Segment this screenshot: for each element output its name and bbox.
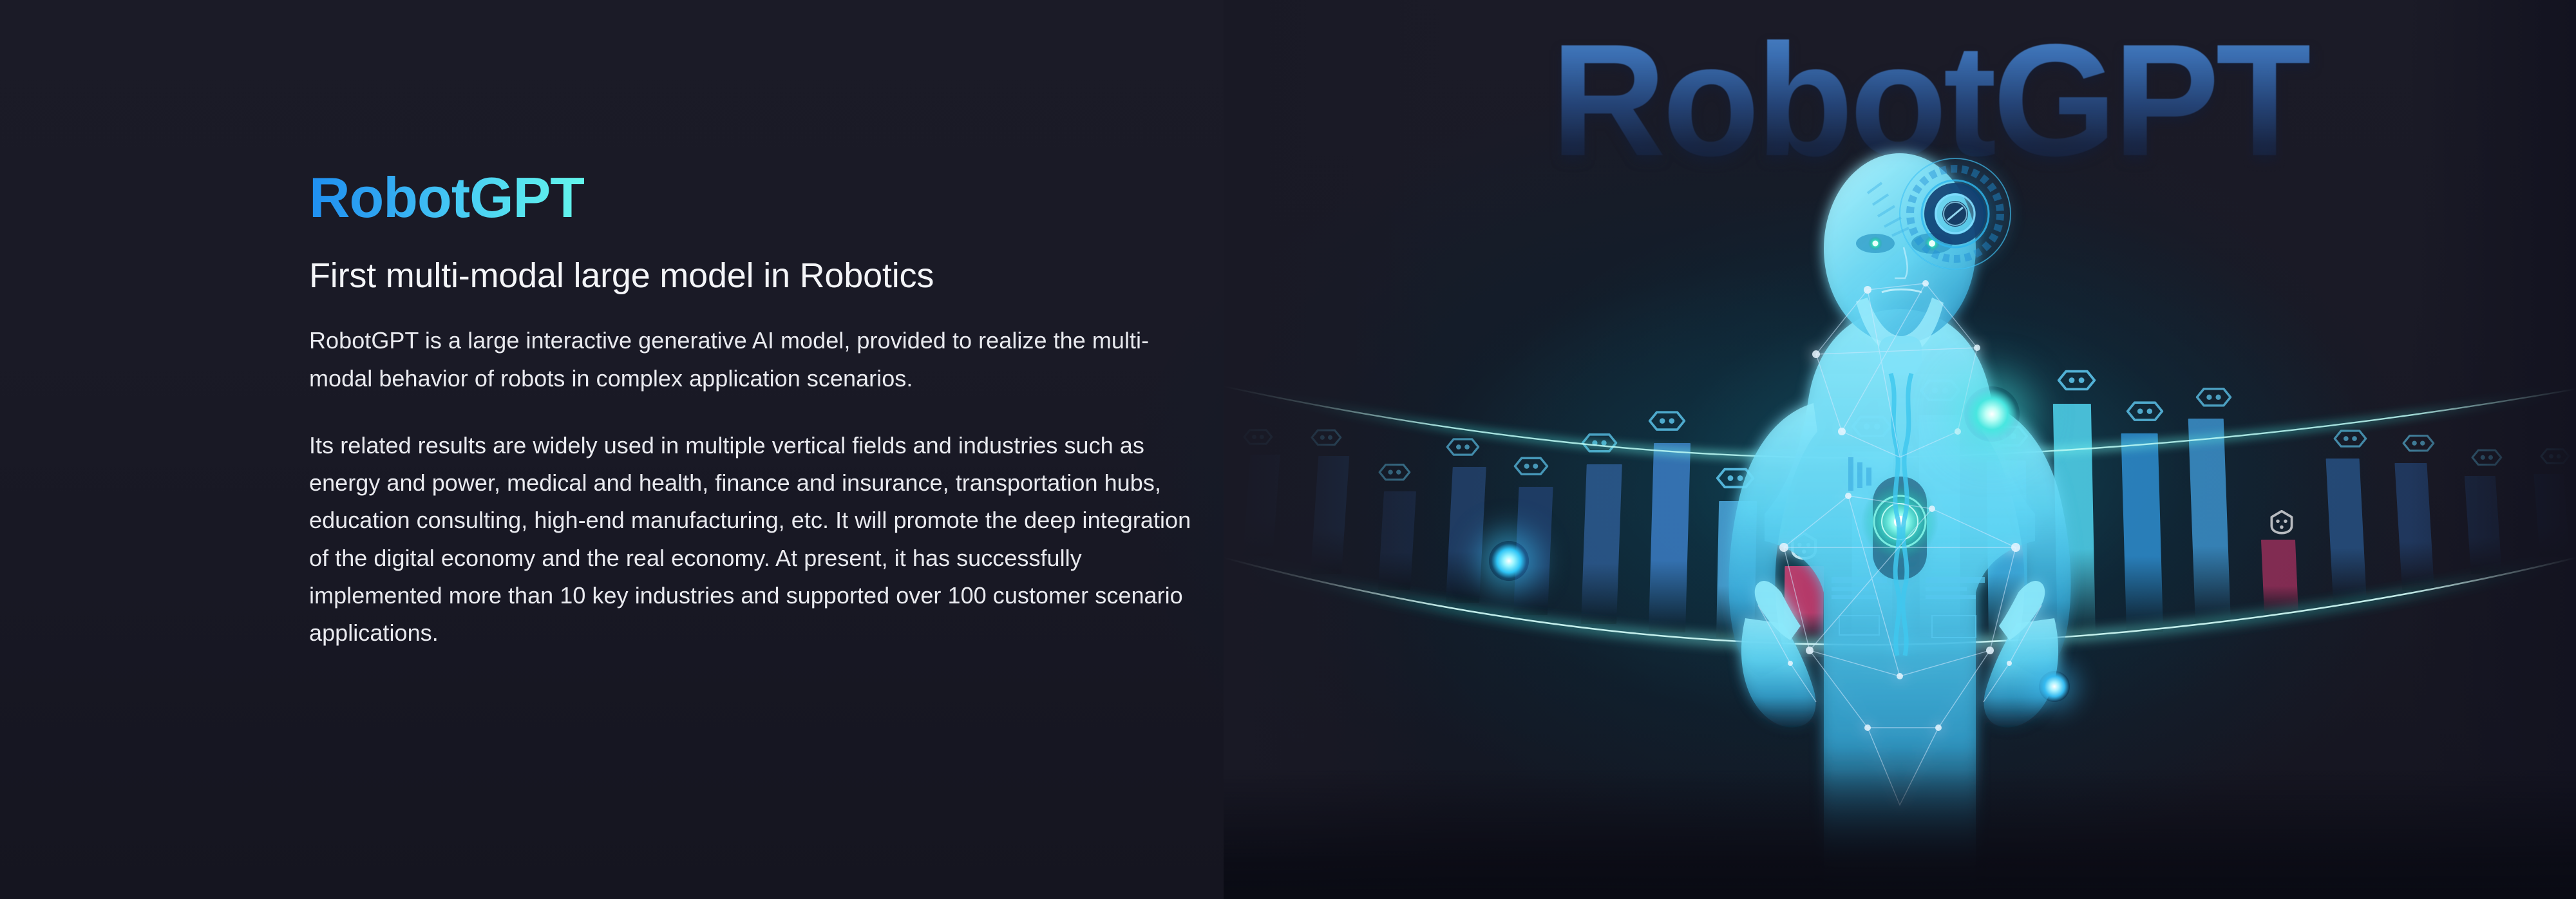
hero-paragraph-1: RobotGPT is a large interactive generati… <box>309 322 1211 397</box>
hero-text-column: RobotGPT First multi-modal large model i… <box>309 169 1224 652</box>
hero-artwork: RobotGPT RobotGPT <box>1224 0 2576 899</box>
hero-paragraph-2: Its related results are widely used in m… <box>309 427 1211 652</box>
page-subtitle: First multi-modal large model in Robotic… <box>309 256 1224 295</box>
artwork-background-glow <box>1224 0 2576 899</box>
page-title: RobotGPT <box>309 169 584 227</box>
robotgpt-hero-banner: RobotGPT First multi-modal large model i… <box>0 0 2576 899</box>
